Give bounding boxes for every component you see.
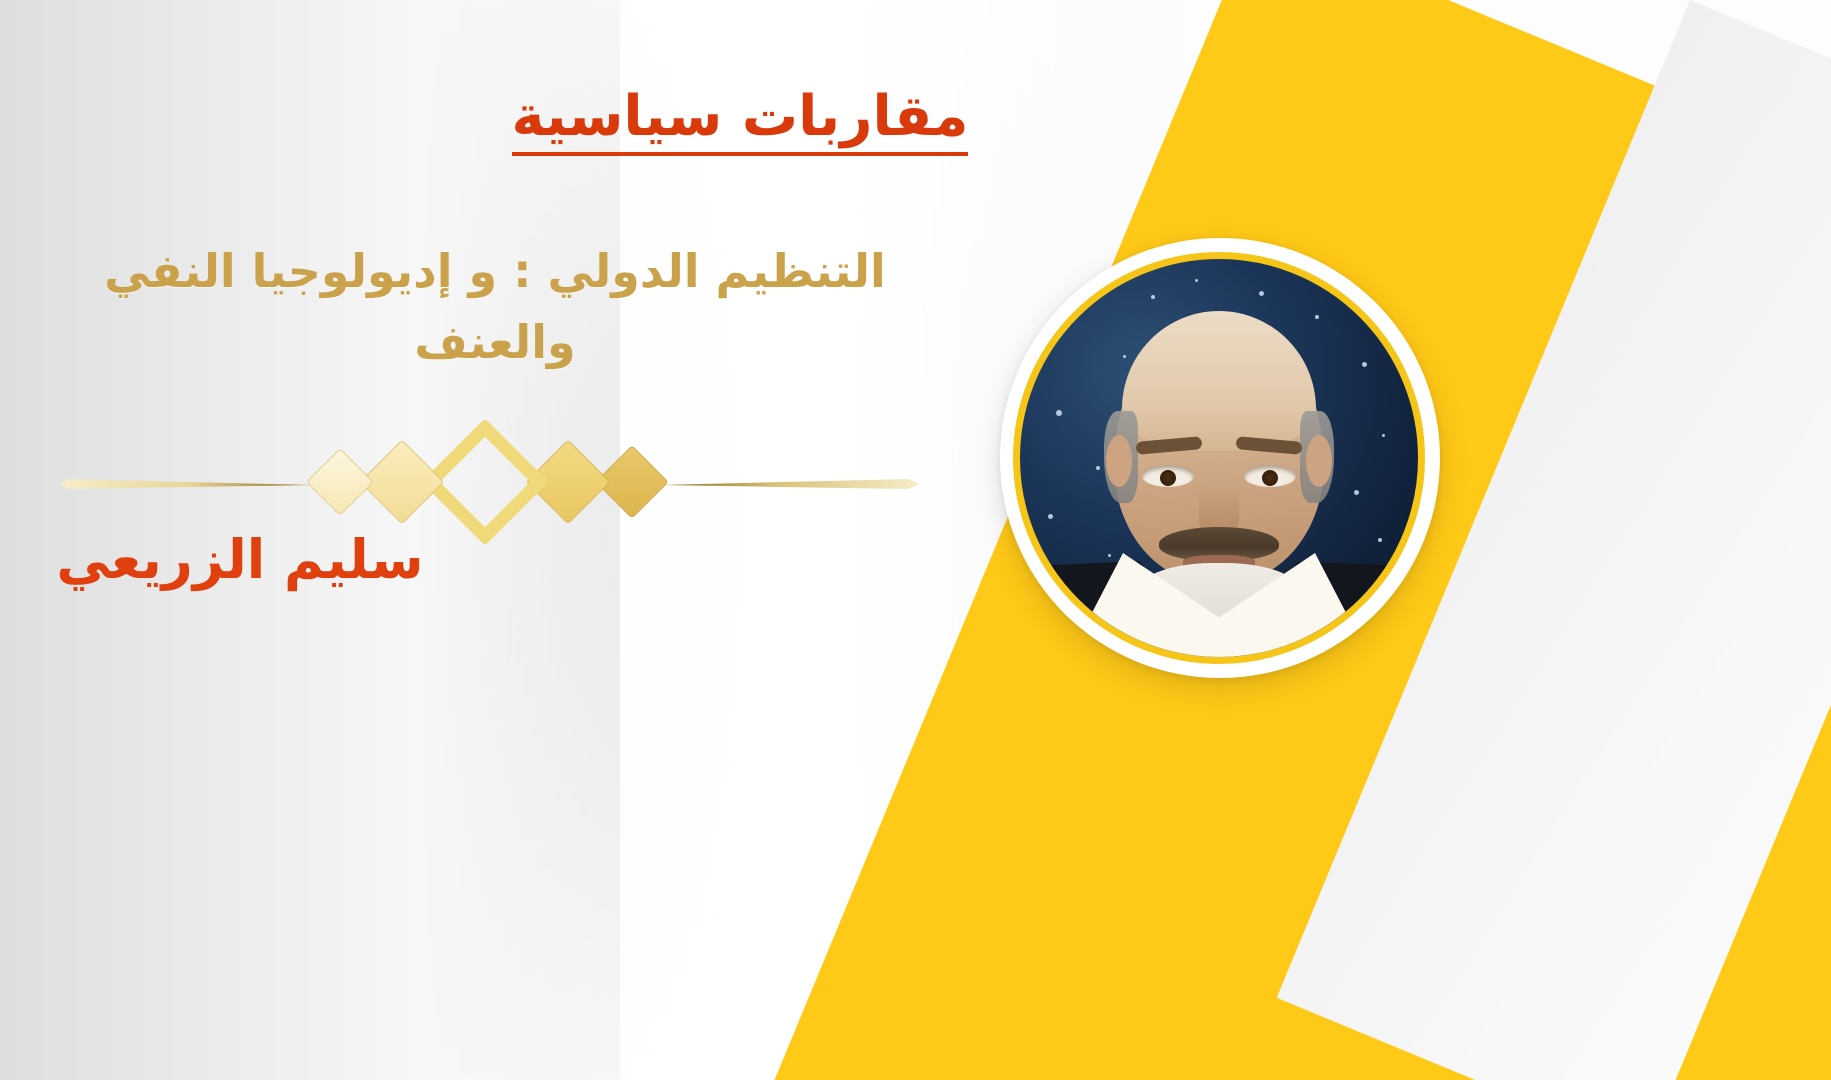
divider-line-right (662, 477, 920, 487)
diamond-group (312, 437, 662, 527)
pupil-right (1262, 470, 1278, 486)
pupil-left (1160, 470, 1176, 486)
ear-right (1306, 435, 1332, 487)
title-line-2: والعنف (40, 307, 950, 378)
diamond-divider-ornament (40, 434, 940, 530)
ear-left (1106, 435, 1132, 487)
section-kicker: مقاربات سياسية (512, 86, 969, 156)
scalp (1122, 311, 1316, 451)
slide-canvas: مقاربات سياسية التنظيم الدولي : و إديولو… (0, 0, 1831, 1080)
author-name: سليم الزريعي (40, 528, 440, 593)
eye-right (1244, 465, 1296, 487)
portrait-face (1094, 315, 1344, 583)
page-title: التنظيم الدولي : و إديولوجيا النفي والعن… (40, 236, 950, 379)
author-portrait-avatar (1013, 252, 1425, 664)
divider-line-left (60, 477, 312, 487)
diamond-1 (306, 448, 374, 516)
title-line-1: التنظيم الدولي : و إديولوجيا النفي (40, 236, 950, 307)
head-shape (1114, 315, 1324, 583)
kicker-container: مقاربات سياسية (0, 86, 1480, 156)
eye-left (1142, 465, 1194, 487)
